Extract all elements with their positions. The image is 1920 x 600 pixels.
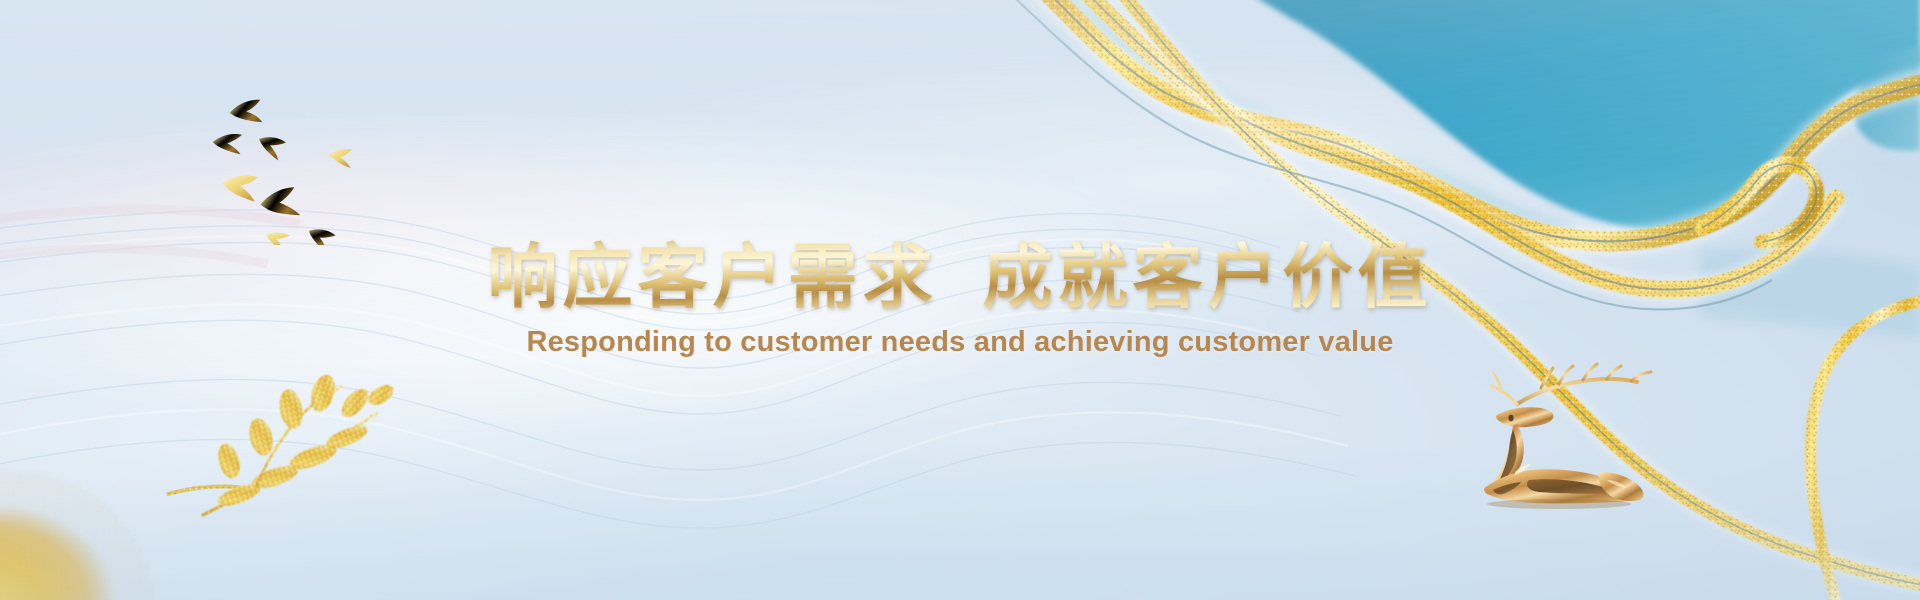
golden-deer-sculpture-icon (1455, 360, 1665, 510)
banner-subtitle: Responding to customer needs and achievi… (0, 326, 1920, 359)
hero-banner: 响应客户需求 成就客户价值 Responding to customer nee… (0, 0, 1920, 600)
banner-text-block: 响应客户需求 成就客户价值 Responding to customer nee… (0, 240, 1920, 359)
banner-headline: 响应客户需求 成就客户价值 (0, 240, 1920, 318)
gold-leaf-branch-icon (195, 365, 410, 525)
flying-birds-icon (210, 95, 450, 245)
